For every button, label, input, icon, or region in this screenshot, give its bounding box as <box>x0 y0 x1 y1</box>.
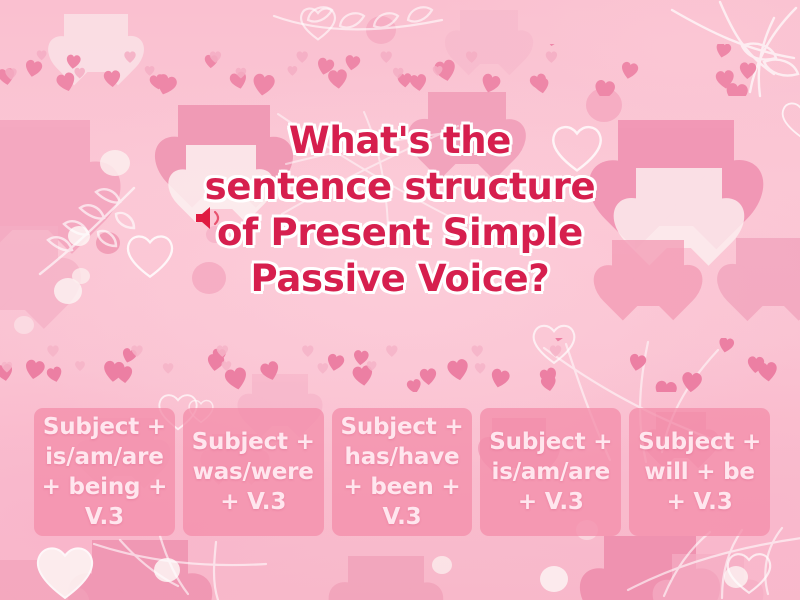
answer-option-label: Subject + is/am/are + V.3 <box>486 427 615 517</box>
answer-option-label: Subject + has/have + been + V.3 <box>338 412 467 532</box>
outline-heart-icon <box>546 118 608 174</box>
outline-heart-icon <box>296 2 340 42</box>
decorative-blob <box>72 268 90 284</box>
answer-option-3[interactable]: Subject + has/have + been + V.3 <box>332 408 473 536</box>
answer-option-2[interactable]: Subject + was/were + V.3 <box>183 408 324 536</box>
answer-option-label: Subject + was/were + V.3 <box>189 427 318 517</box>
decorative-blob <box>154 558 180 582</box>
decorative-heart <box>186 145 256 209</box>
decorative-heart <box>428 92 506 164</box>
decorative-heart <box>604 536 696 600</box>
decorative-heart <box>0 120 90 230</box>
decorative-heart <box>0 226 58 310</box>
decorative-blob <box>366 16 396 44</box>
decorative-blob <box>54 278 82 304</box>
answer-option-label: Subject + will + be + V.3 <box>635 427 764 517</box>
foliage-sprig <box>90 534 270 600</box>
decorative-heart <box>618 120 734 226</box>
decorative-heart <box>348 556 424 600</box>
decorative-heart <box>178 105 270 189</box>
decorative-heart <box>736 238 800 306</box>
outline-heart-icon <box>778 96 800 140</box>
foliage-sprig <box>624 0 800 110</box>
outline-heart-icon <box>122 228 178 280</box>
outline-heart-icon <box>30 538 100 600</box>
question-area: What's the sentence structure of Present… <box>0 118 800 302</box>
decorative-heart <box>612 240 684 306</box>
decorative-blob <box>96 232 120 254</box>
decorative-blob <box>192 262 226 294</box>
page-title: What's the sentence structure of Present… <box>190 118 610 302</box>
decorative-blob <box>724 566 748 588</box>
answer-option-label: Subject + is/am/are + being + V.3 <box>40 412 169 532</box>
decorative-heart <box>92 540 188 600</box>
decorative-heart <box>64 14 128 72</box>
foliage-sprig <box>268 104 468 234</box>
outline-heart-icon <box>722 546 776 596</box>
decorative-blob <box>100 150 130 176</box>
answer-option-4[interactable]: Subject + is/am/are + V.3 <box>480 408 621 536</box>
decorative-heart <box>460 10 518 64</box>
decorative-blob <box>586 88 622 122</box>
answer-option-1[interactable]: Subject + is/am/are + being + V.3 <box>34 408 175 536</box>
heart-confetti-band-bottom <box>0 338 800 392</box>
decorative-heart <box>636 168 722 248</box>
answer-option-5[interactable]: Subject + will + be + V.3 <box>629 408 770 536</box>
decorative-heart <box>672 554 744 600</box>
decorative-blob <box>68 226 90 246</box>
foliage-sprig <box>268 2 448 92</box>
answer-options: Subject + is/am/are + being + V.3 Subjec… <box>34 408 770 536</box>
heart-confetti-band-top <box>0 44 800 96</box>
decorative-blob <box>14 316 34 334</box>
quiz-slide: What's the sentence structure of Present… <box>0 0 800 600</box>
speaker-icon[interactable] <box>193 203 227 233</box>
foliage-sprig <box>16 170 146 290</box>
decorative-heart <box>0 560 70 600</box>
decorative-blob <box>432 556 452 574</box>
decorative-blob <box>540 566 568 592</box>
outline-heart-icon <box>528 318 580 366</box>
